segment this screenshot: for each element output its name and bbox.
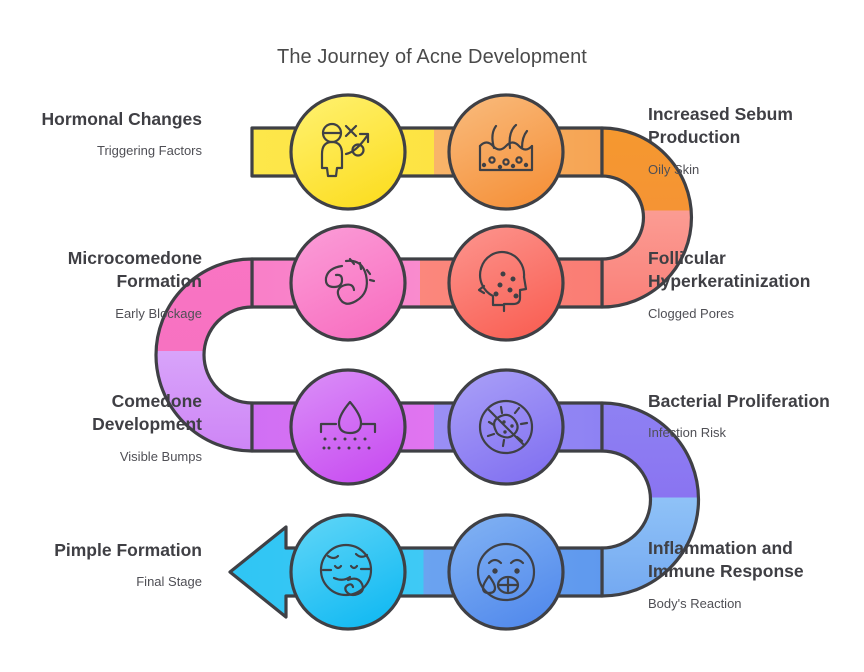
- step-label-microcomedone-formation: Microcomedone Formation Early Blockage: [12, 247, 202, 322]
- step-title: Inflammation and Immune Response: [648, 537, 856, 584]
- step-label-bacterial-proliferation: Bacterial Proliferation Infection Risk: [648, 390, 856, 442]
- step-title: Follicular Hyperkeratinization: [648, 247, 856, 294]
- step-label-pimple-formation: Pimple Formation Final Stage: [12, 539, 202, 591]
- step-title: Hormonal Changes: [12, 108, 202, 131]
- node-circle-follicular-hyperkeratinization: [449, 226, 563, 340]
- step-subtitle: Visible Bumps: [12, 448, 202, 466]
- step-subtitle: Final Stage: [12, 573, 202, 591]
- step-subtitle: Body's Reaction: [648, 595, 856, 613]
- step-subtitle: Early Blockage: [12, 305, 202, 323]
- step-subtitle: Infection Risk: [648, 424, 856, 442]
- step-label-follicular-hyperkeratinization: Follicular Hyperkeratinization Clogged P…: [648, 247, 856, 322]
- step-label-hormonal-changes: Hormonal Changes Triggering Factors: [12, 108, 202, 160]
- step-subtitle: Triggering Factors: [12, 142, 202, 160]
- step-subtitle: Oily Skin: [648, 161, 856, 179]
- step-label-inflammation-immune-response: Inflammation and Immune Response Body's …: [648, 537, 856, 612]
- step-title: Increased Sebum Production: [648, 103, 856, 150]
- node-circle-inflammation-immune-response: [449, 515, 563, 629]
- step-subtitle: Clogged Pores: [648, 305, 856, 323]
- step-title: Pimple Formation: [12, 539, 202, 562]
- step-title: Bacterial Proliferation: [648, 390, 856, 413]
- node-circle-hormonal-changes: [291, 95, 405, 209]
- step-label-increased-sebum-production: Increased Sebum Production Oily Skin: [648, 103, 856, 178]
- step-title: Microcomedone Formation: [12, 247, 202, 294]
- step-label-comedone-development: Comedone Development Visible Bumps: [12, 390, 202, 465]
- node-circle-increased-sebum-production: [449, 95, 563, 209]
- infographic-canvas: The Journey of Acne Development: [0, 0, 864, 672]
- node-circle-comedone-development: [291, 370, 405, 484]
- node-circle-pimple-formation: [291, 515, 405, 629]
- node-circle-microcomedone-formation: [291, 226, 405, 340]
- step-title: Comedone Development: [12, 390, 202, 437]
